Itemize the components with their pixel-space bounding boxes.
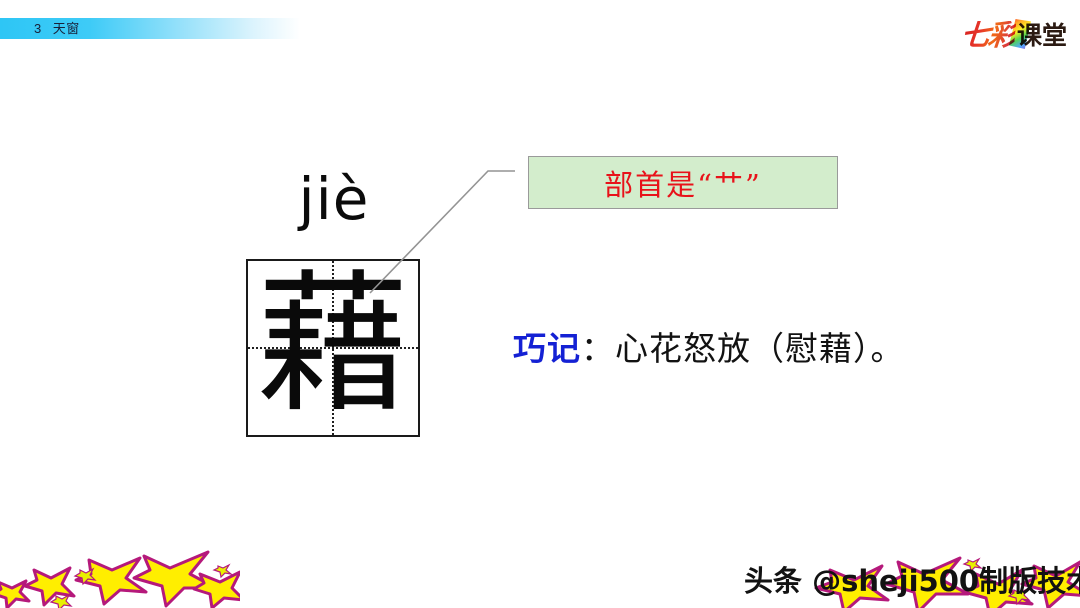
- radical-callout-box: 部首是“艹”: [528, 156, 838, 209]
- target-character: 藉: [248, 261, 418, 435]
- lesson-title: 天窗: [53, 21, 80, 36]
- character-grid: 藉: [246, 259, 420, 437]
- logo-text-primary: 七彩: [960, 21, 1017, 50]
- mnemonic-body: ：心花怒放（慰藉）。: [581, 329, 905, 368]
- pinyin-label: jiè: [246, 164, 422, 234]
- brand-logo: 七彩 课堂: [961, 17, 1067, 53]
- lesson-number: 3: [34, 21, 42, 36]
- watermark-text: 头条 @sheji500制版技术: [744, 563, 1080, 599]
- stars-left-decoration-icon: [0, 548, 240, 608]
- breadcrumb: 3天窗: [34, 19, 80, 38]
- mnemonic-line: 巧记：心花怒放（慰藉）。: [513, 327, 905, 371]
- mnemonic-label: 巧记: [513, 329, 581, 368]
- radical-callout-text: 部首是“艹”: [604, 162, 762, 204]
